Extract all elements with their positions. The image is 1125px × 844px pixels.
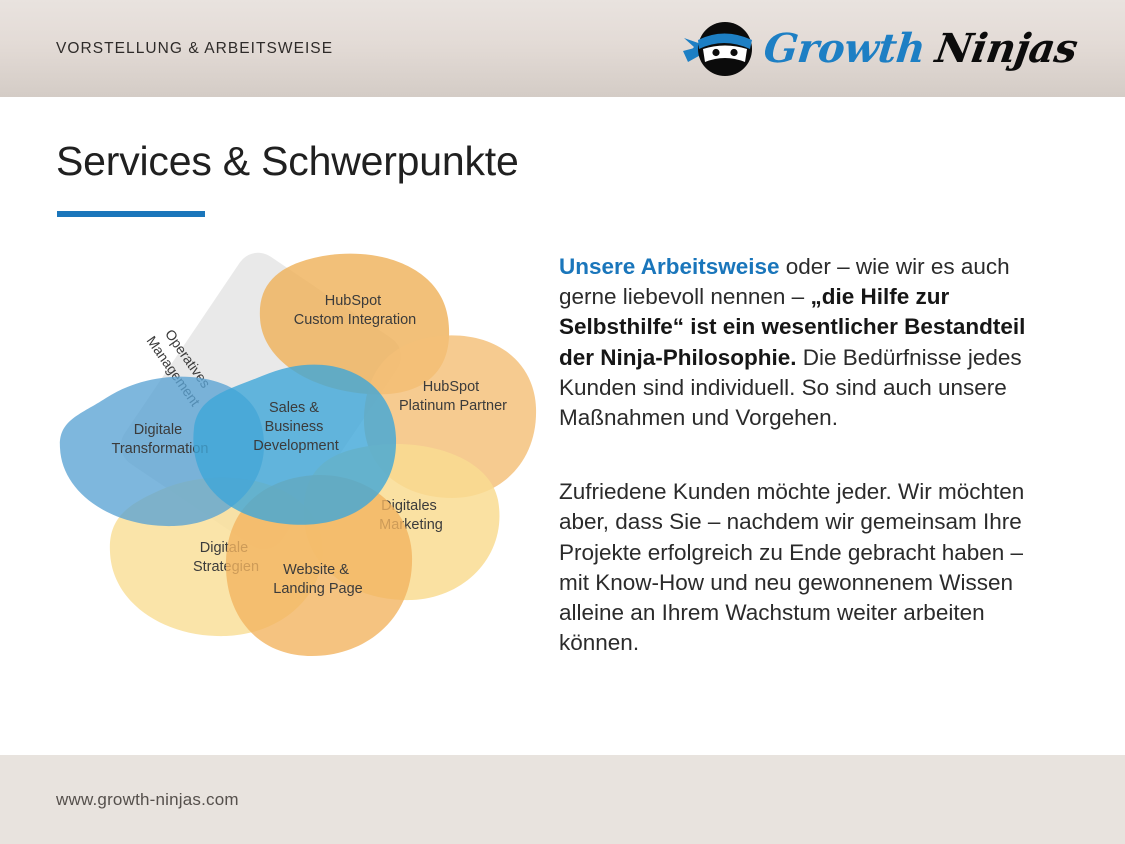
petal-label-line2: Custom Integration: [294, 312, 417, 328]
header-eyebrow: VORSTELLUNG & ARBEITSWEISE: [56, 40, 333, 58]
petal-label-line1: HubSpot: [325, 293, 381, 309]
brand-logo[interactable]: Growth Ninjas: [682, 16, 1077, 82]
petal-label-line2: Business: [265, 419, 324, 435]
services-venn-diagram: Operatives Management HubSpot Custom Int…: [48, 248, 548, 668]
page-title: Services & Schwerpunkte: [56, 138, 519, 185]
petal-label-line3: Development: [253, 438, 338, 454]
slide-header: VORSTELLUNG & ARBEITSWEISE Growth Ninjas: [0, 0, 1125, 97]
title-underline-rule: [57, 211, 205, 217]
paragraph-two: Zufriedene Kunden möchte jeder. Wir möch…: [559, 477, 1059, 658]
brand-word-ninjas: Ninjas: [933, 25, 1081, 72]
slide-footer: www.growth-ninjas.com: [0, 755, 1125, 844]
petal-label-line1: Digitale: [134, 422, 182, 438]
petal-label-line1: HubSpot: [423, 379, 479, 395]
brand-wordmark: Growth Ninjas: [764, 25, 1077, 72]
body-copy: Unsere Arbeitsweise oder – wie wir es au…: [559, 252, 1059, 658]
footer-website-url[interactable]: www.growth-ninjas.com: [56, 790, 239, 810]
petal-label-line2: Landing Page: [273, 581, 363, 597]
brand-word-growth: Growth: [762, 25, 928, 72]
paragraph-one: Unsere Arbeitsweise oder – wie wir es au…: [559, 252, 1059, 433]
accent-lead-in: Unsere Arbeitsweise: [559, 254, 780, 279]
petal-label-line1: Website &: [283, 562, 349, 578]
petal-label-line1: Sales &: [269, 400, 319, 416]
ninja-head-icon: [682, 18, 758, 80]
petal-label-line2: Platinum Partner: [399, 398, 507, 414]
